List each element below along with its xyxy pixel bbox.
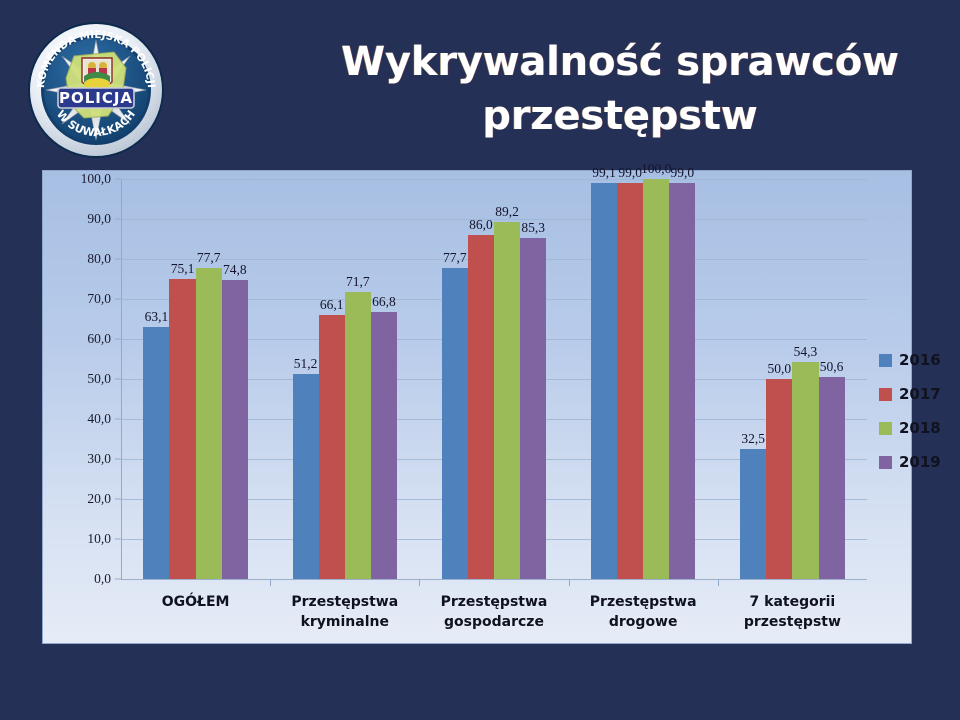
bar-value-label: 50,6 xyxy=(820,359,844,375)
y-axis-tick-label: 50,0 xyxy=(87,371,111,387)
y-axis-tick-mark xyxy=(115,339,121,340)
x-axis-category-label: Przestępstwakryminalne xyxy=(270,593,419,633)
legend-item-2019[interactable]: 2019 xyxy=(879,445,955,479)
bar-value-label: 86,0 xyxy=(469,217,493,233)
legend-label: 2018 xyxy=(899,419,941,437)
legend-swatch-icon xyxy=(879,422,892,435)
bar-2016-4[interactable]: 99,1 xyxy=(591,183,617,579)
legend-item-2018[interactable]: 2018 xyxy=(879,411,955,445)
bar-2017-2[interactable]: 66,1 xyxy=(319,315,345,579)
bar-value-label: 54,3 xyxy=(794,344,818,360)
x-axis-category-line: kryminalne xyxy=(270,613,419,633)
bar-2019-1[interactable]: 74,8 xyxy=(222,280,248,579)
police-badge-logo: POLICJA KOMENDA MIEJSKA POLICJI W SUWAŁK… xyxy=(22,16,170,160)
bar-group: 63,175,177,774,8 xyxy=(121,179,270,579)
x-axis-tick-mark xyxy=(569,579,570,586)
y-axis-tick-mark xyxy=(115,299,121,300)
y-axis-tick-label: 100,0 xyxy=(81,171,111,187)
bar-2017-4[interactable]: 99,0 xyxy=(617,183,643,579)
bar-value-label: 99,0 xyxy=(618,165,642,181)
bar-2016-1[interactable]: 63,1 xyxy=(143,327,169,579)
bar-2018-2[interactable]: 71,7 xyxy=(345,292,371,579)
bar-value-label: 89,2 xyxy=(495,204,519,220)
bar-value-label: 71,7 xyxy=(346,274,370,290)
y-axis-tick-label: 30,0 xyxy=(87,451,111,467)
bar-2018-3[interactable]: 89,2 xyxy=(494,222,520,579)
y-axis-tick-mark xyxy=(115,259,121,260)
x-axis-category-label: 7 kategoriiprzestępstw xyxy=(718,593,867,633)
bar-2016-3[interactable]: 77,7 xyxy=(442,268,468,579)
x-axis-category-line: gospodarcze xyxy=(419,613,568,633)
legend-item-2017[interactable]: 2017 xyxy=(879,377,955,411)
bar-2019-2[interactable]: 66,8 xyxy=(371,312,397,579)
bar-2016-5[interactable]: 32,5 xyxy=(740,449,766,579)
bar-2017-3[interactable]: 86,0 xyxy=(468,235,494,579)
bar-2019-3[interactable]: 85,3 xyxy=(520,238,546,579)
bar-2018-4[interactable]: 100,0 xyxy=(643,179,669,579)
bar-value-label: 63,1 xyxy=(145,309,169,325)
bar-2019-4[interactable]: 99,0 xyxy=(669,183,695,579)
bar-2018-5[interactable]: 54,3 xyxy=(792,362,818,579)
bar-2018-1[interactable]: 77,7 xyxy=(196,268,222,579)
x-axis-category-line: OGÓŁEM xyxy=(121,593,270,613)
legend-swatch-icon xyxy=(879,388,892,401)
y-axis-tick-label: 70,0 xyxy=(87,291,111,307)
bar-group: 32,550,054,350,6 xyxy=(718,179,867,579)
bar-value-label: 99,1 xyxy=(592,165,616,181)
bar-value-label: 77,7 xyxy=(197,250,221,266)
bar-value-label: 32,5 xyxy=(741,431,765,447)
legend-item-2016[interactable]: 2016 xyxy=(879,343,955,377)
x-axis-category-line: Przestępstwa xyxy=(270,593,419,613)
bar-group: 51,266,171,766,8 xyxy=(270,179,419,579)
bar-value-label: 100,0 xyxy=(641,161,671,177)
legend-label: 2017 xyxy=(899,385,941,403)
svg-text:POLICJA: POLICJA xyxy=(59,89,133,107)
y-axis-tick-mark xyxy=(115,419,121,420)
y-axis-tick-label: 80,0 xyxy=(87,251,111,267)
bar-2017-5[interactable]: 50,0 xyxy=(766,379,792,579)
legend-swatch-icon xyxy=(879,354,892,367)
x-axis-category-line: przestępstw xyxy=(718,613,867,633)
legend-label: 2016 xyxy=(899,351,941,369)
chart-legend: 2016201720182019 xyxy=(879,343,955,479)
x-axis-category-line: 7 kategorii xyxy=(718,593,867,613)
legend-swatch-icon xyxy=(879,456,892,469)
legend-label: 2019 xyxy=(899,453,941,471)
y-axis-tick-mark xyxy=(115,379,121,380)
y-axis-tick-label: 0,0 xyxy=(94,571,111,587)
bar-value-label: 75,1 xyxy=(171,261,195,277)
page-title: Wykrywalność sprawców przestępstw xyxy=(300,36,940,143)
bar-value-label: 66,1 xyxy=(320,297,344,313)
plot-area: 63,175,177,774,851,266,171,766,877,786,0… xyxy=(121,179,867,579)
y-axis-tick-label: 60,0 xyxy=(87,331,111,347)
bar-2019-5[interactable]: 50,6 xyxy=(819,377,845,579)
bar-value-label: 74,8 xyxy=(223,262,247,278)
x-axis-category-label: Przestępstwadrogowe xyxy=(569,593,718,633)
y-axis-tick-mark xyxy=(115,459,121,460)
bar-value-label: 50,0 xyxy=(768,361,792,377)
bar-value-label: 51,2 xyxy=(294,356,318,372)
bar-group: 99,199,0100,099,0 xyxy=(569,179,718,579)
x-axis-category-line: Przestępstwa xyxy=(569,593,718,613)
bar-value-label: 99,0 xyxy=(671,165,695,181)
y-axis-tick-label: 40,0 xyxy=(87,411,111,427)
y-axis-tick-mark xyxy=(115,499,121,500)
bar-value-label: 77,7 xyxy=(443,250,467,266)
x-axis-tick-mark xyxy=(718,579,719,586)
y-axis-tick-mark xyxy=(115,179,121,180)
gridline xyxy=(121,579,867,580)
bar-2016-2[interactable]: 51,2 xyxy=(293,374,319,579)
x-axis-category-line: Przestępstwa xyxy=(419,593,568,613)
bar-value-label: 66,8 xyxy=(372,294,396,310)
y-axis-tick-label: 10,0 xyxy=(87,531,111,547)
bar-group: 77,786,089,285,3 xyxy=(419,179,568,579)
bar-value-label: 85,3 xyxy=(521,220,545,236)
x-axis-tick-mark xyxy=(270,579,271,586)
y-axis-tick-mark xyxy=(115,579,121,580)
x-axis-category-line: drogowe xyxy=(569,613,718,633)
chart-container: 0,010,020,030,040,050,060,070,080,090,01… xyxy=(42,170,912,644)
y-axis-tick-mark xyxy=(115,539,121,540)
y-axis-tick-label: 20,0 xyxy=(87,491,111,507)
y-axis-tick-mark xyxy=(115,219,121,220)
x-axis-tick-mark xyxy=(419,579,420,586)
x-axis-category-label: Przestępstwagospodarcze xyxy=(419,593,568,633)
x-axis: OGÓŁEMPrzestępstwakryminalnePrzestępstwa… xyxy=(121,587,867,643)
bar-2017-1[interactable]: 75,1 xyxy=(169,279,195,579)
y-axis: 0,010,020,030,040,050,060,070,080,090,01… xyxy=(49,179,111,579)
x-axis-category-label: OGÓŁEM xyxy=(121,593,270,613)
y-axis-tick-label: 90,0 xyxy=(87,211,111,227)
